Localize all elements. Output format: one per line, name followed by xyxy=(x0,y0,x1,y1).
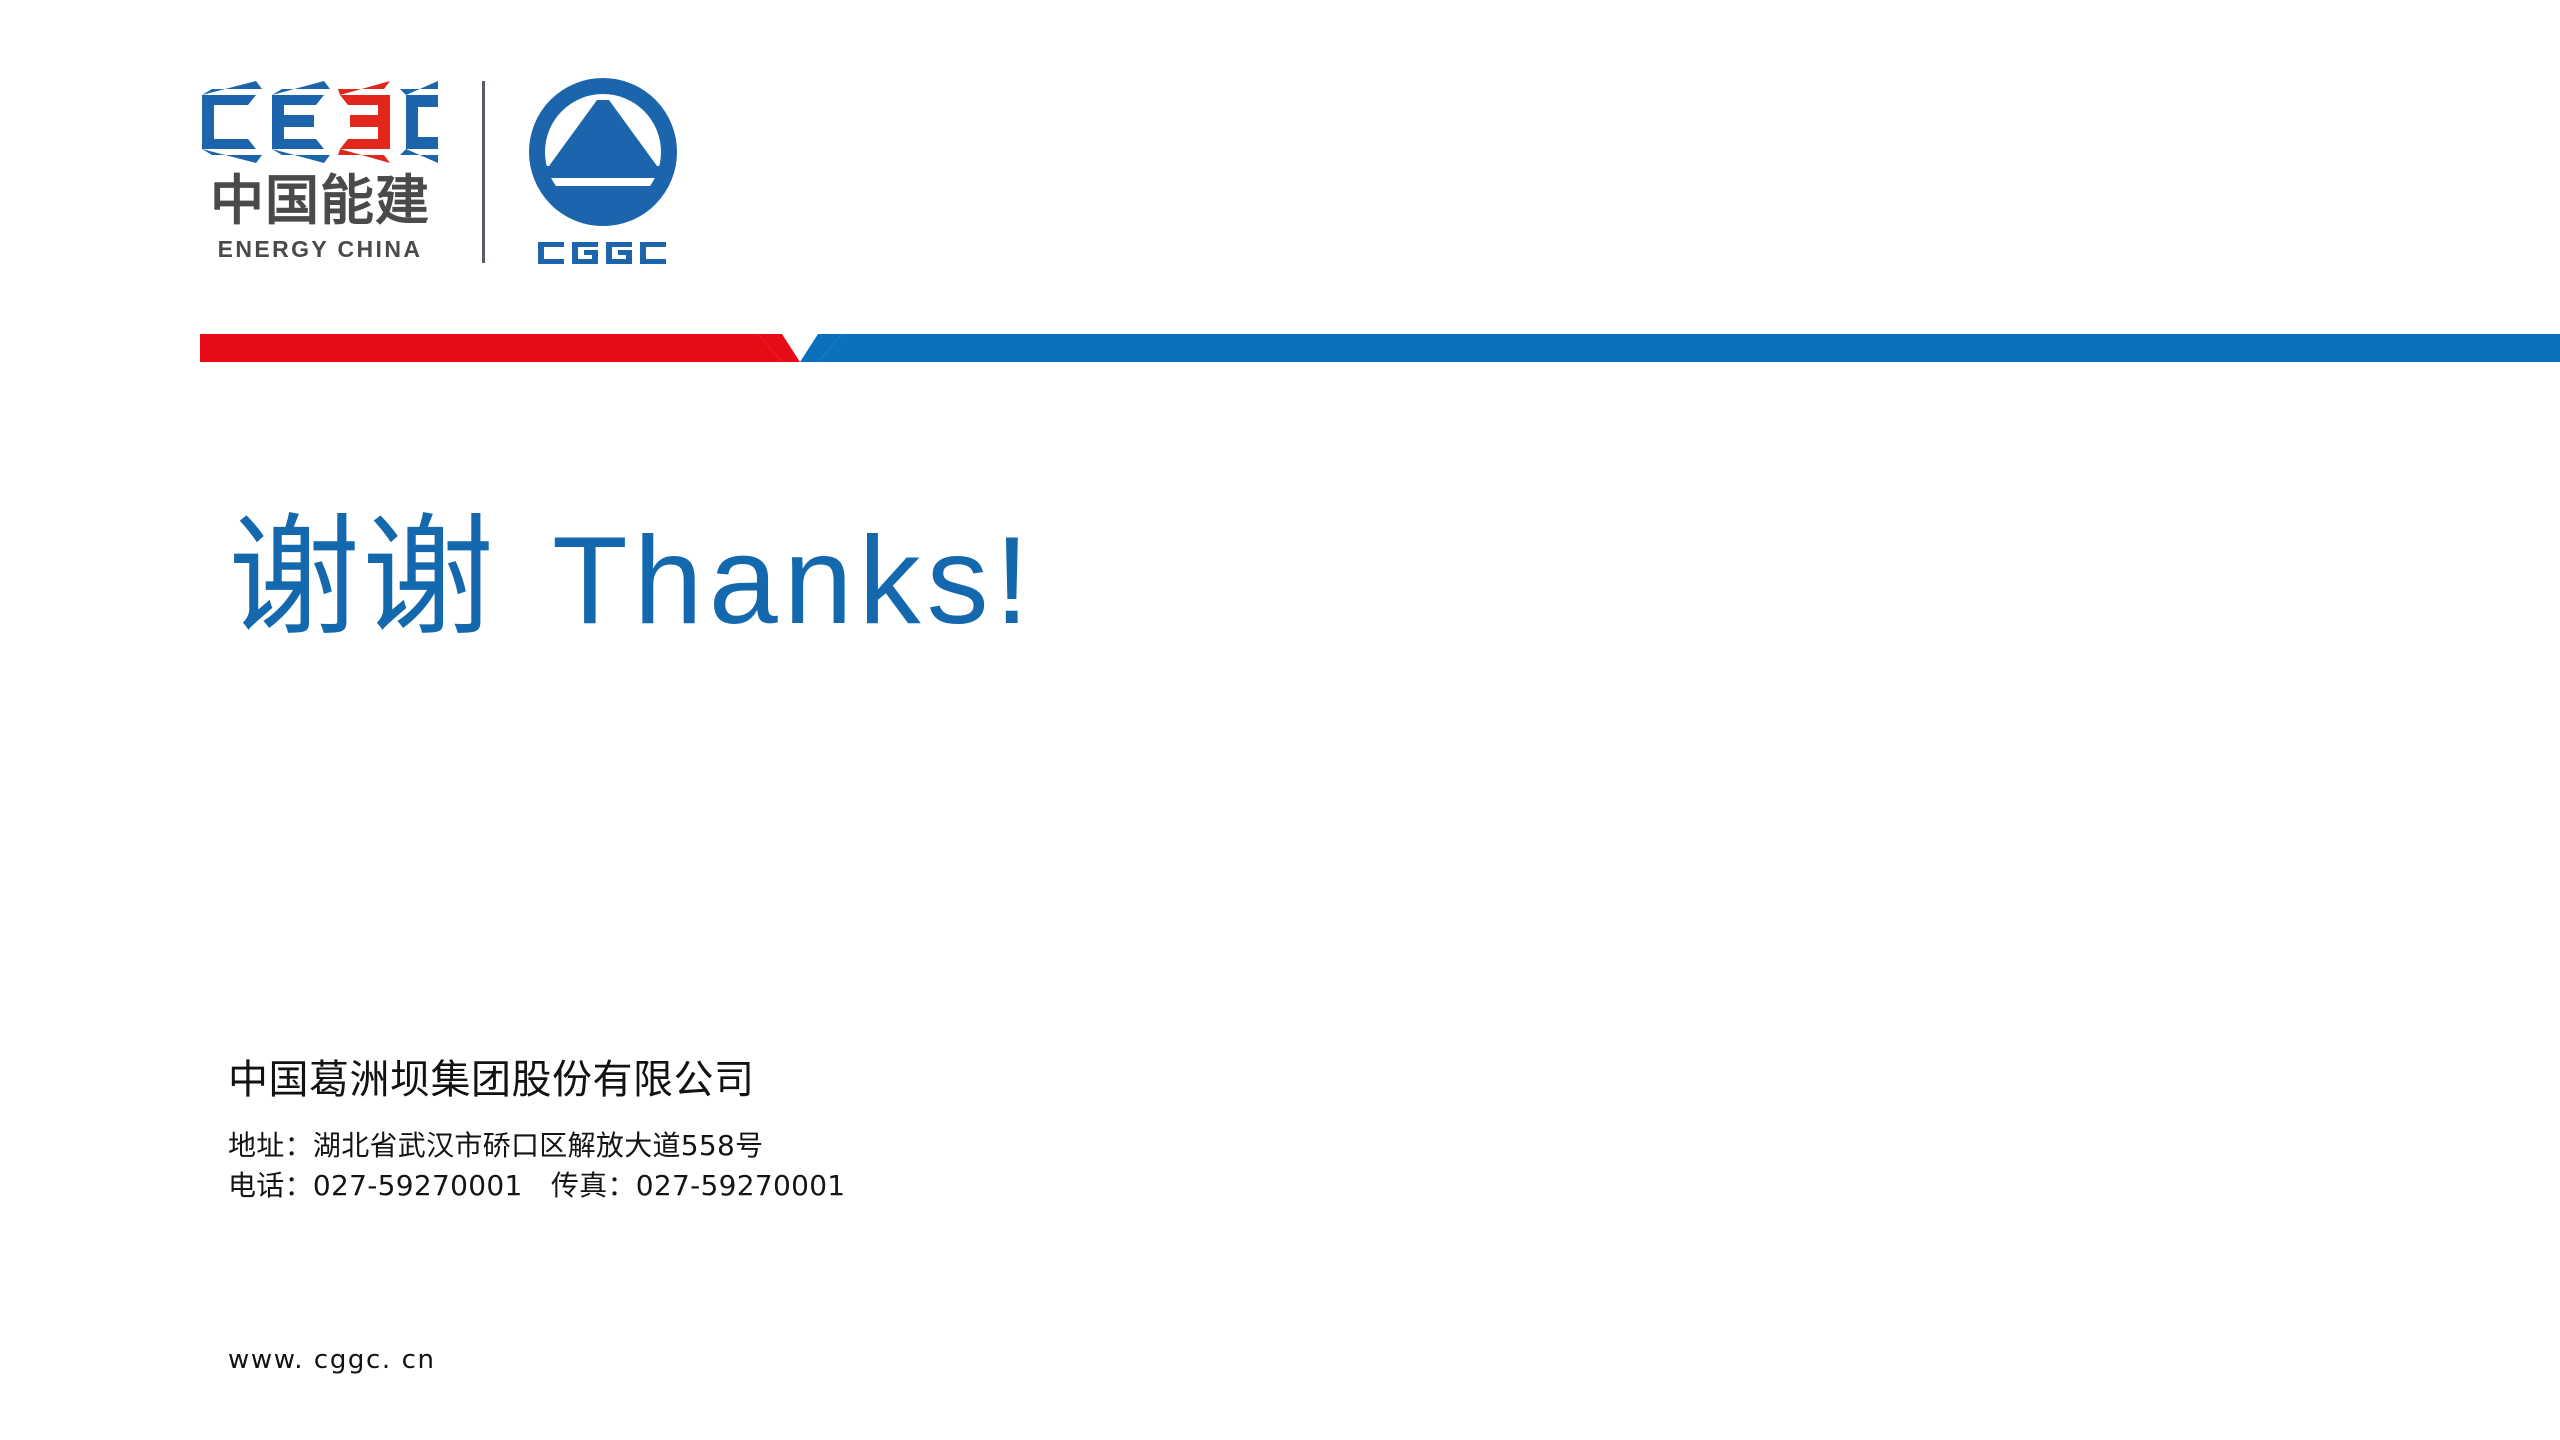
cggc-logo-lockup xyxy=(527,76,679,268)
company-phone-fax: 电话：027-59270001 传真：027-59270001 xyxy=(228,1166,845,1206)
company-address: 地址：湖北省武汉市硚口区解放大道558号 xyxy=(228,1126,845,1166)
slide-canvas: 中国能建 ENERGY CHINA xyxy=(0,0,2560,1440)
company-contact-lines: 地址：湖北省武汉市硚口区解放大道558号 电话：027-59270001 传真：… xyxy=(228,1126,845,1206)
ceec-english-name: ENERGY CHINA xyxy=(218,236,423,263)
company-info-block: 中国葛洲坝集团股份有限公司 地址：湖北省武汉市硚口区解放大道558号 电话：02… xyxy=(228,1056,845,1206)
title-chinese: 谢谢 xyxy=(228,512,496,644)
company-website: www. cggc. cn xyxy=(228,1345,436,1375)
ceec-wordmark-icon xyxy=(200,81,440,163)
slide-title: 谢谢 Thanks! xyxy=(228,512,1035,644)
logo-separator-line xyxy=(482,81,485,263)
title-english: Thanks! xyxy=(552,519,1035,643)
ceec-chinese-name: 中国能建 xyxy=(210,173,430,230)
brand-logo-block: 中国能建 ENERGY CHINA xyxy=(200,72,679,272)
cggc-dam-circle-emblem-icon xyxy=(527,76,679,228)
divider-bar-blue-body xyxy=(818,334,2560,362)
cggc-wordmark-icon xyxy=(536,238,670,268)
red-blue-divider-bar xyxy=(0,334,2560,362)
company-name: 中国葛洲坝集团股份有限公司 xyxy=(228,1056,845,1104)
ceec-logo-lockup: 中国能建 ENERGY CHINA xyxy=(200,81,440,263)
divider-bar-red-body xyxy=(200,334,782,362)
